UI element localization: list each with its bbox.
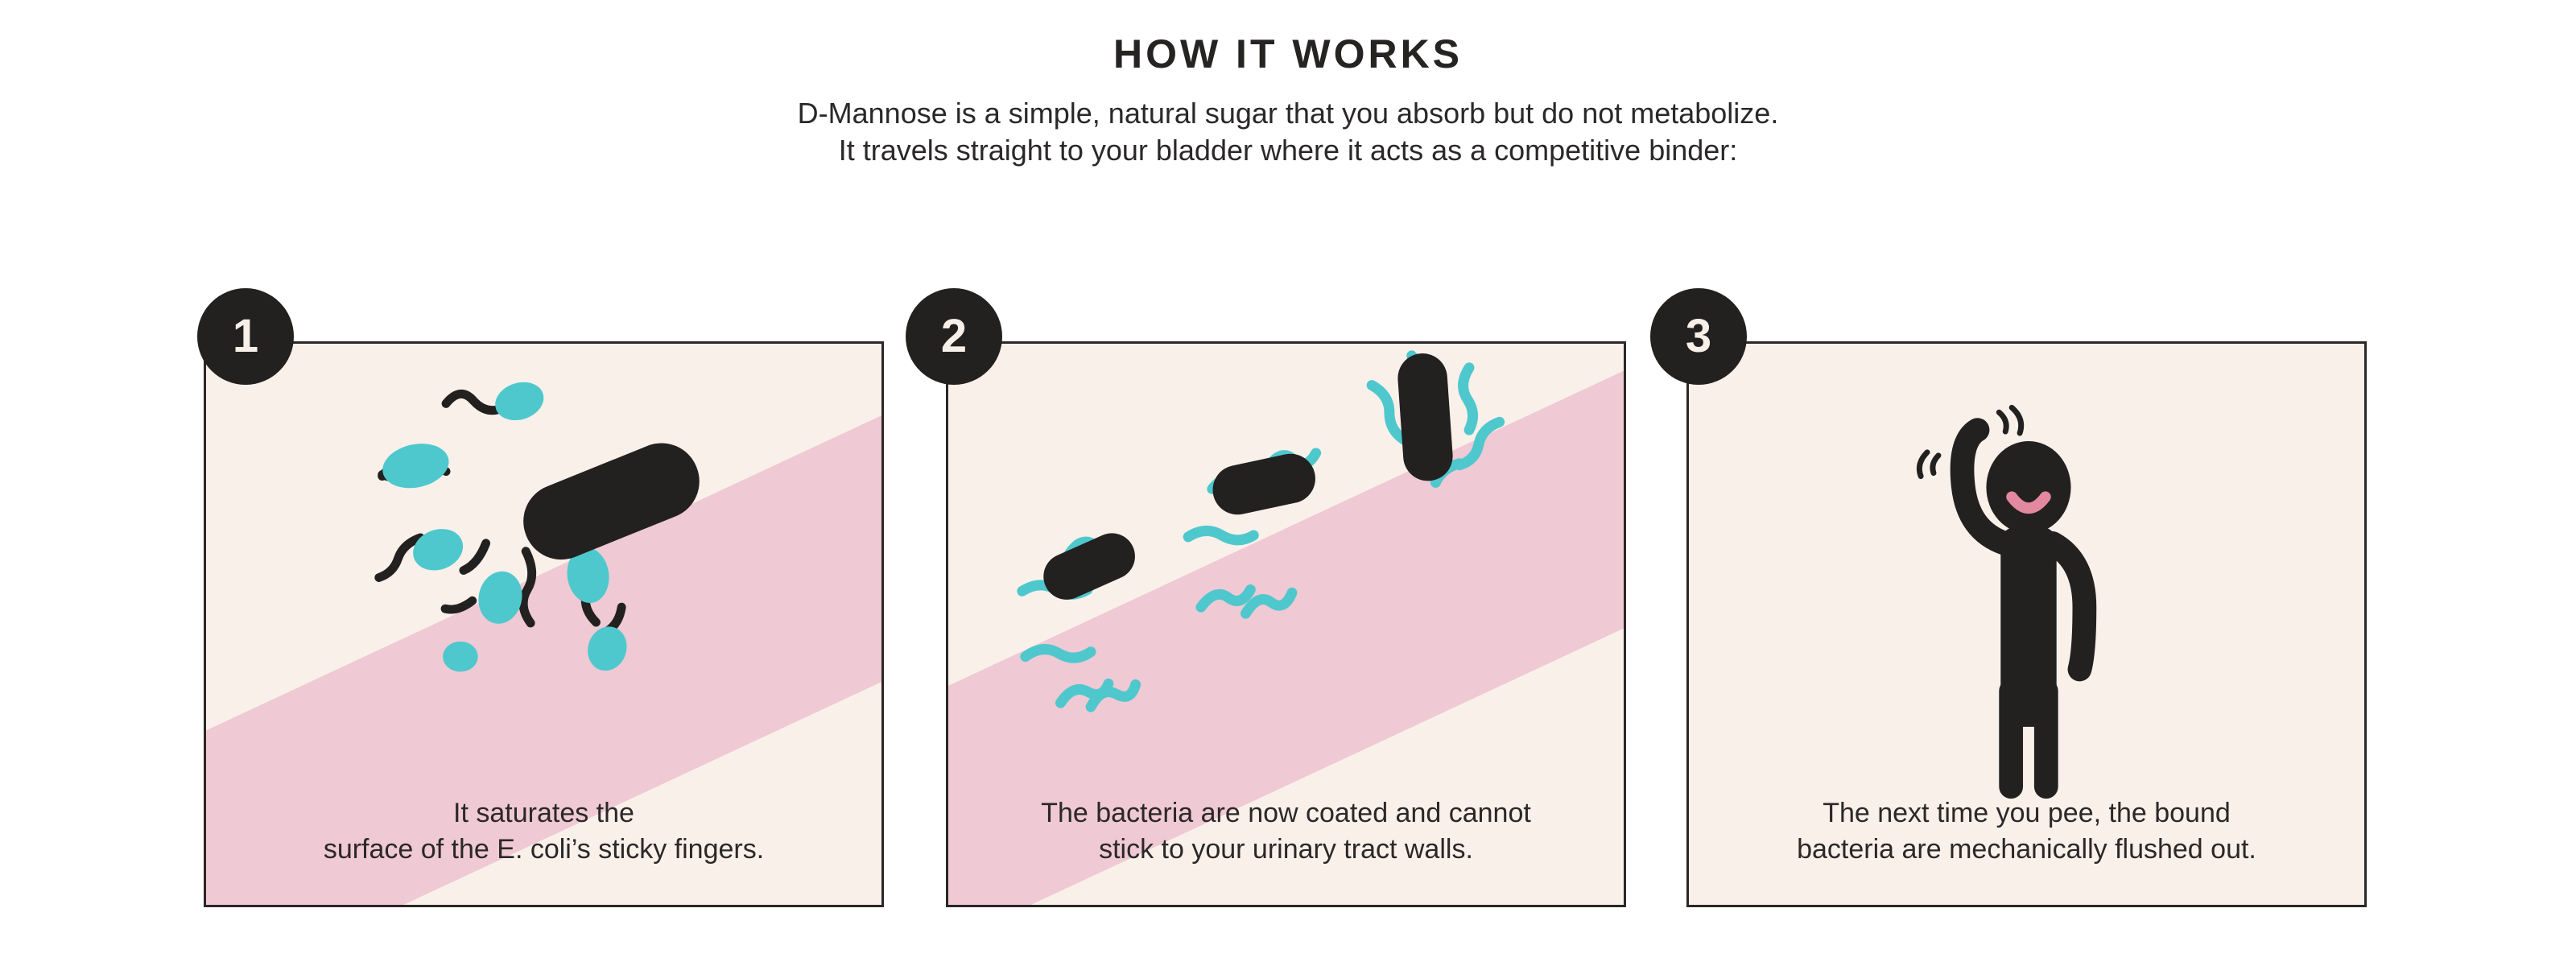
- subtitle-line-2: It travels straight to your bladder wher…: [0, 132, 2576, 169]
- caption-line-1: It saturates the: [227, 795, 861, 832]
- caption-line-2: surface of the E. coli’s sticky fingers.: [227, 832, 861, 868]
- step-card-2: The bacteria are now coated and cannot s…: [946, 341, 1626, 907]
- caption-line-1: The next time you pee, the bound: [1710, 795, 2343, 832]
- step-caption-3: The next time you pee, the bound bacteri…: [1689, 795, 2364, 868]
- steps-row: It saturates the surface of the E. coli’…: [0, 283, 2576, 927]
- step-card-1: It saturates the surface of the E. coli’…: [204, 341, 884, 907]
- caption-line-2: stick to your urinary tract walls.: [969, 832, 1603, 868]
- step-badge-3: 3: [1650, 288, 1747, 385]
- header: HOW IT WORKS D-Mannose is a simple, natu…: [0, 0, 2576, 169]
- subtitle-line-1: D-Mannose is a simple, natural sugar tha…: [0, 95, 2576, 132]
- step-badge-2: 2: [906, 288, 1002, 385]
- page-subtitle: D-Mannose is a simple, natural sugar tha…: [0, 74, 2576, 169]
- step-badge-1: 1: [197, 288, 294, 385]
- step-caption-2: The bacteria are now coated and cannot s…: [948, 795, 1624, 868]
- step-caption-1: It saturates the surface of the E. coli’…: [206, 795, 881, 868]
- caption-line-2: bacteria are mechanically flushed out.: [1710, 832, 2343, 868]
- caption-line-1: The bacteria are now coated and cannot: [969, 795, 1603, 832]
- step-card-3: The next time you pee, the bound bacteri…: [1686, 341, 2367, 907]
- page-title: HOW IT WORKS: [0, 0, 2576, 74]
